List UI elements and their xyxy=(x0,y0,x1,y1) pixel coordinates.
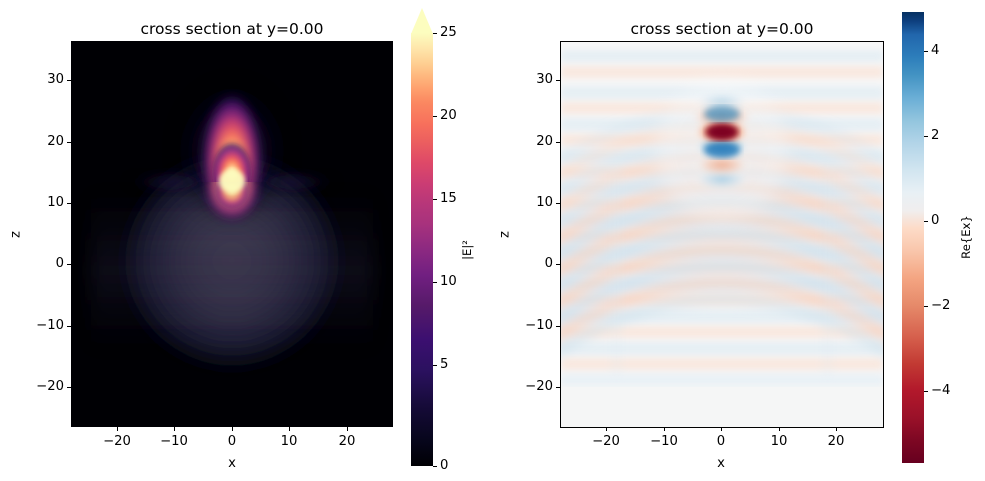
left-ytick-20: 20 xyxy=(26,134,64,149)
left-ytick-mark-m10 xyxy=(67,326,71,327)
left-xtick-mark-10 xyxy=(289,427,290,431)
right-ytick-30: 30 xyxy=(515,72,553,87)
left-xtick-mark-m10 xyxy=(174,427,175,431)
left-xtick-m20: −20 xyxy=(92,434,142,449)
left-cbar-tick-20: 20 xyxy=(440,108,457,123)
right-xtick-0: 0 xyxy=(696,434,746,449)
real-field-heatmap xyxy=(561,42,883,427)
right-ytick-mark-20 xyxy=(556,142,560,143)
right-ytick-mark-30 xyxy=(556,80,560,81)
right-xaxis-label: x xyxy=(681,456,761,471)
right-xtick-mark-m20 xyxy=(606,427,607,431)
right-xtick-mark-0 xyxy=(721,427,722,431)
left-cbar-tick-10: 10 xyxy=(440,274,457,289)
left-cbar-tick-mark-0 xyxy=(433,466,437,467)
left-xtick-mark-20 xyxy=(347,427,348,431)
left-cbar-tick-mark-10 xyxy=(433,282,437,283)
right-ytick-m10: −10 xyxy=(509,318,553,333)
right-ytick-0: 0 xyxy=(515,256,553,271)
left-cbar-tick-mark-20 xyxy=(433,116,437,117)
left-xtick-20: 20 xyxy=(322,434,372,449)
left-ytick-m10: −10 xyxy=(20,318,64,333)
left-cbar-tick-15: 15 xyxy=(440,191,457,206)
right-ytick-mark-10 xyxy=(556,203,560,204)
right-cbar-tick-m2: −2 xyxy=(931,298,950,313)
left-ytick-mark-m20 xyxy=(67,387,71,388)
right-cbar-tick-mark-m4 xyxy=(924,391,928,392)
left-cbar-tick-mark-5 xyxy=(433,365,437,366)
right-colorbar-label: Re{Ex} xyxy=(959,202,973,272)
right-xtick-10: 10 xyxy=(754,434,804,449)
right-panel-image xyxy=(560,41,884,428)
right-ytick-10: 10 xyxy=(515,195,553,210)
left-xtick-mark-0 xyxy=(232,427,233,431)
right-xtick-m10: −10 xyxy=(639,434,689,449)
right-xtick-20: 20 xyxy=(811,434,861,449)
left-ytick-mark-30 xyxy=(67,80,71,81)
left-ytick-30: 30 xyxy=(26,72,64,87)
left-cbar-tick-0: 0 xyxy=(440,458,448,473)
left-xtick-mark-m20 xyxy=(117,427,118,431)
right-cbar-tick-0: 0 xyxy=(931,213,939,228)
right-xtick-m20: −20 xyxy=(581,434,631,449)
right-cbar-tick-mark-4 xyxy=(924,51,928,52)
right-cbar-tick-4: 4 xyxy=(931,43,939,58)
left-ytick-m20: −20 xyxy=(20,379,64,394)
left-xtick-m10: −10 xyxy=(149,434,199,449)
left-panel-title: cross section at y=0.00 xyxy=(71,20,393,38)
left-xaxis-label: x xyxy=(192,456,272,471)
left-cbar-tick-mark-25 xyxy=(433,33,437,34)
right-colorbar[interactable] xyxy=(902,12,924,463)
right-ytick-m20: −20 xyxy=(509,379,553,394)
right-cbar-tick-mark-0 xyxy=(924,221,928,222)
right-ytick-20: 20 xyxy=(515,134,553,149)
right-cbar-tick-m4: −4 xyxy=(931,383,950,398)
left-xtick-0: 0 xyxy=(207,434,257,449)
right-xtick-mark-10 xyxy=(779,427,780,431)
left-cbar-tick-5: 5 xyxy=(440,357,448,372)
left-cbar-tick-25: 25 xyxy=(440,25,457,40)
right-cbar-tick-mark-m2 xyxy=(924,306,928,307)
right-cbar-tick-mark-2 xyxy=(924,136,928,137)
right-ytick-mark-0 xyxy=(556,264,560,265)
left-ytick-10: 10 xyxy=(26,195,64,210)
left-ytick-mark-20 xyxy=(67,142,71,143)
left-ytick-0: 0 xyxy=(26,256,64,271)
right-panel-title: cross section at y=0.00 xyxy=(561,20,883,38)
left-cbar-tick-mark-15 xyxy=(433,199,437,200)
left-panel-image xyxy=(71,41,393,427)
left-colorbar-label: |E|² xyxy=(460,220,474,280)
left-colorbar[interactable] xyxy=(411,33,433,466)
right-cbar-tick-2: 2 xyxy=(931,128,939,143)
figure-canvas: cross section at y=0.00 xyxy=(0,0,985,481)
left-colorbar-extend-arrow xyxy=(411,8,433,34)
right-xtick-mark-m10 xyxy=(664,427,665,431)
right-xtick-mark-20 xyxy=(836,427,837,431)
left-ytick-mark-0 xyxy=(67,264,71,265)
left-yaxis-label: z xyxy=(9,195,24,275)
right-ytick-mark-m20 xyxy=(556,387,560,388)
left-xtick-10: 10 xyxy=(264,434,314,449)
right-ytick-mark-m10 xyxy=(556,326,560,327)
left-ytick-mark-10 xyxy=(67,203,71,204)
right-yaxis-label: z xyxy=(498,195,513,275)
intensity-heatmap xyxy=(71,41,393,427)
